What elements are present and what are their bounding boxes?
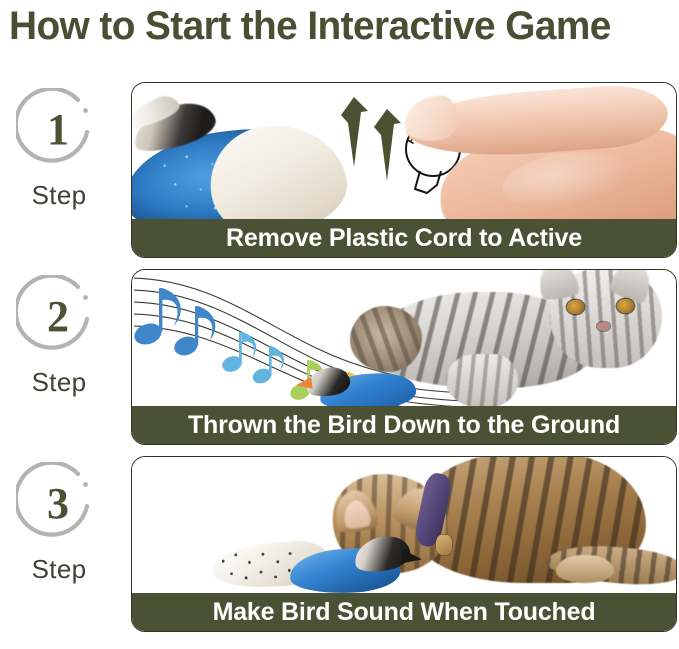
step-card-2: Thrown the Bird Down to the Ground (131, 269, 677, 445)
step-row: 1 Step (0, 78, 679, 263)
blue-jay-toy (300, 366, 428, 408)
bird-beak (295, 377, 313, 391)
cat-ear-right (608, 270, 654, 304)
hand-photo (382, 83, 676, 221)
step-card-1: PULL Remove Plastic Cord to Active (131, 82, 677, 258)
step-word: Step (4, 180, 114, 211)
step-number: 2 (16, 275, 100, 359)
steps-list: 1 Step (0, 0, 679, 649)
cat-raised-paw (350, 306, 422, 372)
step-caption: Make Bird Sound When Touched (132, 593, 676, 631)
blue-jay-toy (218, 537, 428, 595)
bird-beak (401, 550, 423, 567)
collar-bell-icon (436, 535, 452, 555)
cat-paw (556, 555, 614, 583)
step-number: 3 (16, 462, 100, 546)
step-photo-1: PULL (132, 83, 676, 221)
cat-eye-right (617, 299, 634, 313)
step-photo-2 (132, 270, 676, 408)
step-badge-3: 3 Step (4, 462, 126, 632)
cat-eye-left (567, 300, 584, 314)
step-row: 3 Step (0, 452, 679, 637)
step-word: Step (4, 367, 114, 398)
cat-front-leg (446, 354, 518, 408)
cat-nose (597, 322, 610, 331)
step-badge-1: 1 Step (4, 88, 126, 258)
step-caption: Remove Plastic Cord to Active (132, 219, 676, 257)
step-row: 2 Step (0, 265, 679, 450)
step-card-3: Make Bird Sound When Touched (131, 456, 677, 632)
step-photo-3 (132, 457, 676, 595)
step-word: Step (4, 554, 114, 585)
cat-head (550, 270, 662, 368)
step-caption: Thrown the Bird Down to the Ground (132, 406, 676, 444)
brown-cat-scene (132, 457, 676, 595)
step-number: 1 (16, 88, 100, 172)
step-badge-2: 2 Step (4, 275, 126, 445)
